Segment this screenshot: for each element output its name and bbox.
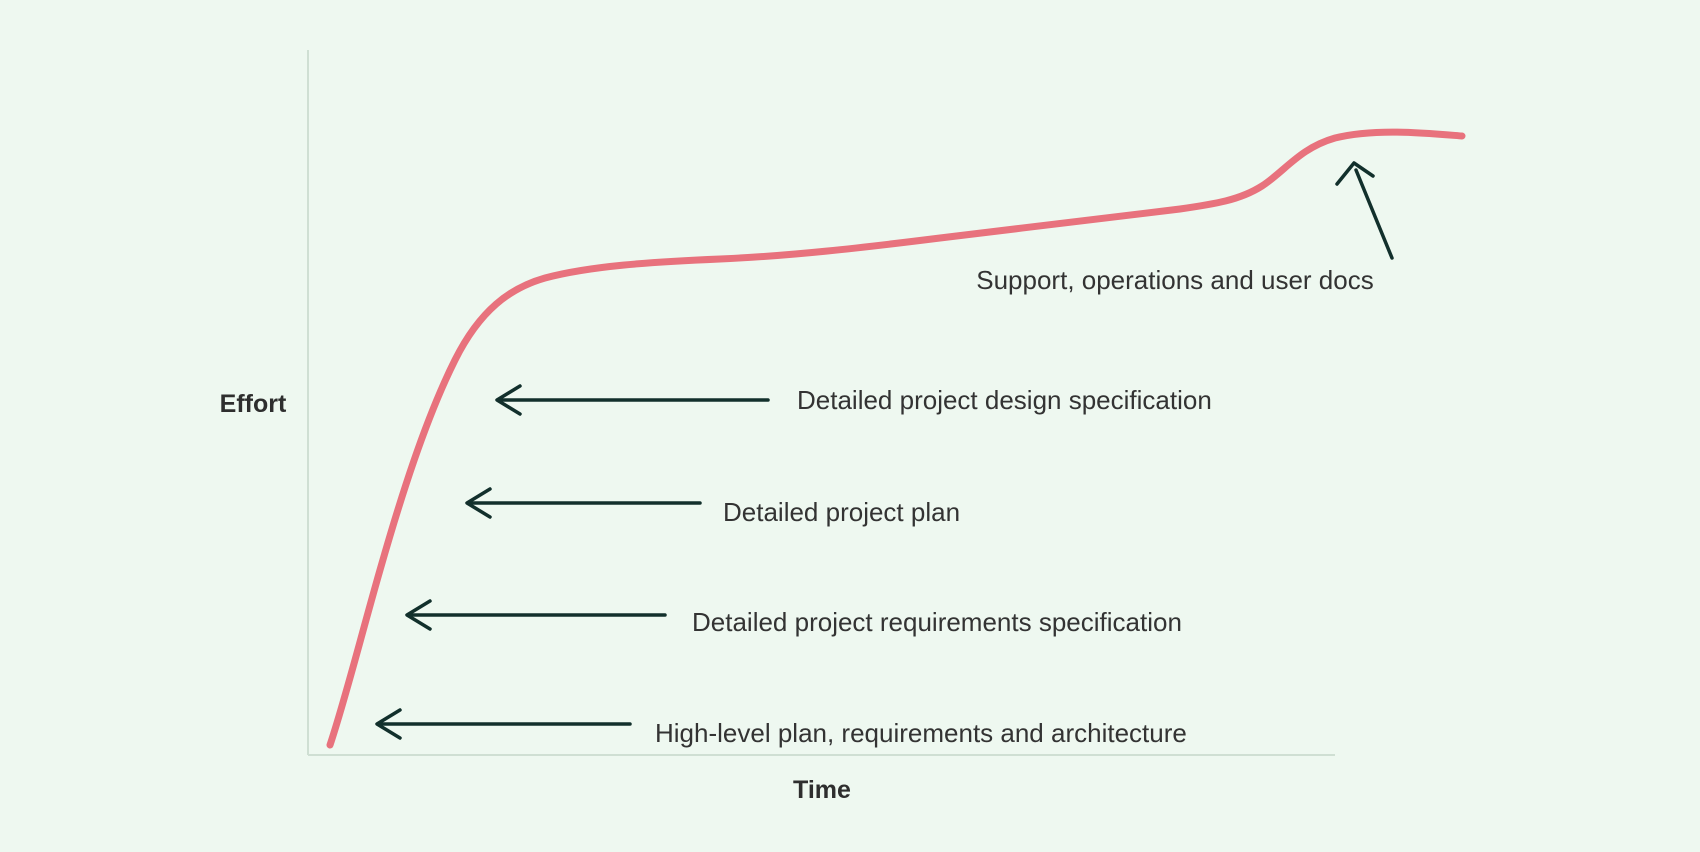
support-operations-label: Support, operations and user docs	[976, 265, 1373, 295]
design-spec-label: Detailed project design specification	[797, 385, 1212, 415]
effort-time-chart: Effort Time Support, operations and user…	[0, 0, 1700, 852]
y-axis-label: Effort	[220, 390, 287, 418]
chart-canvas: Effort Time Support, operations and user…	[0, 0, 1700, 852]
x-axis-label: Time	[793, 776, 851, 804]
requirements-spec-label: Detailed project requirements specificat…	[692, 607, 1182, 637]
high-level-plan-label: High-level plan, requirements and archit…	[655, 718, 1187, 748]
project-plan-label: Detailed project plan	[723, 497, 960, 527]
